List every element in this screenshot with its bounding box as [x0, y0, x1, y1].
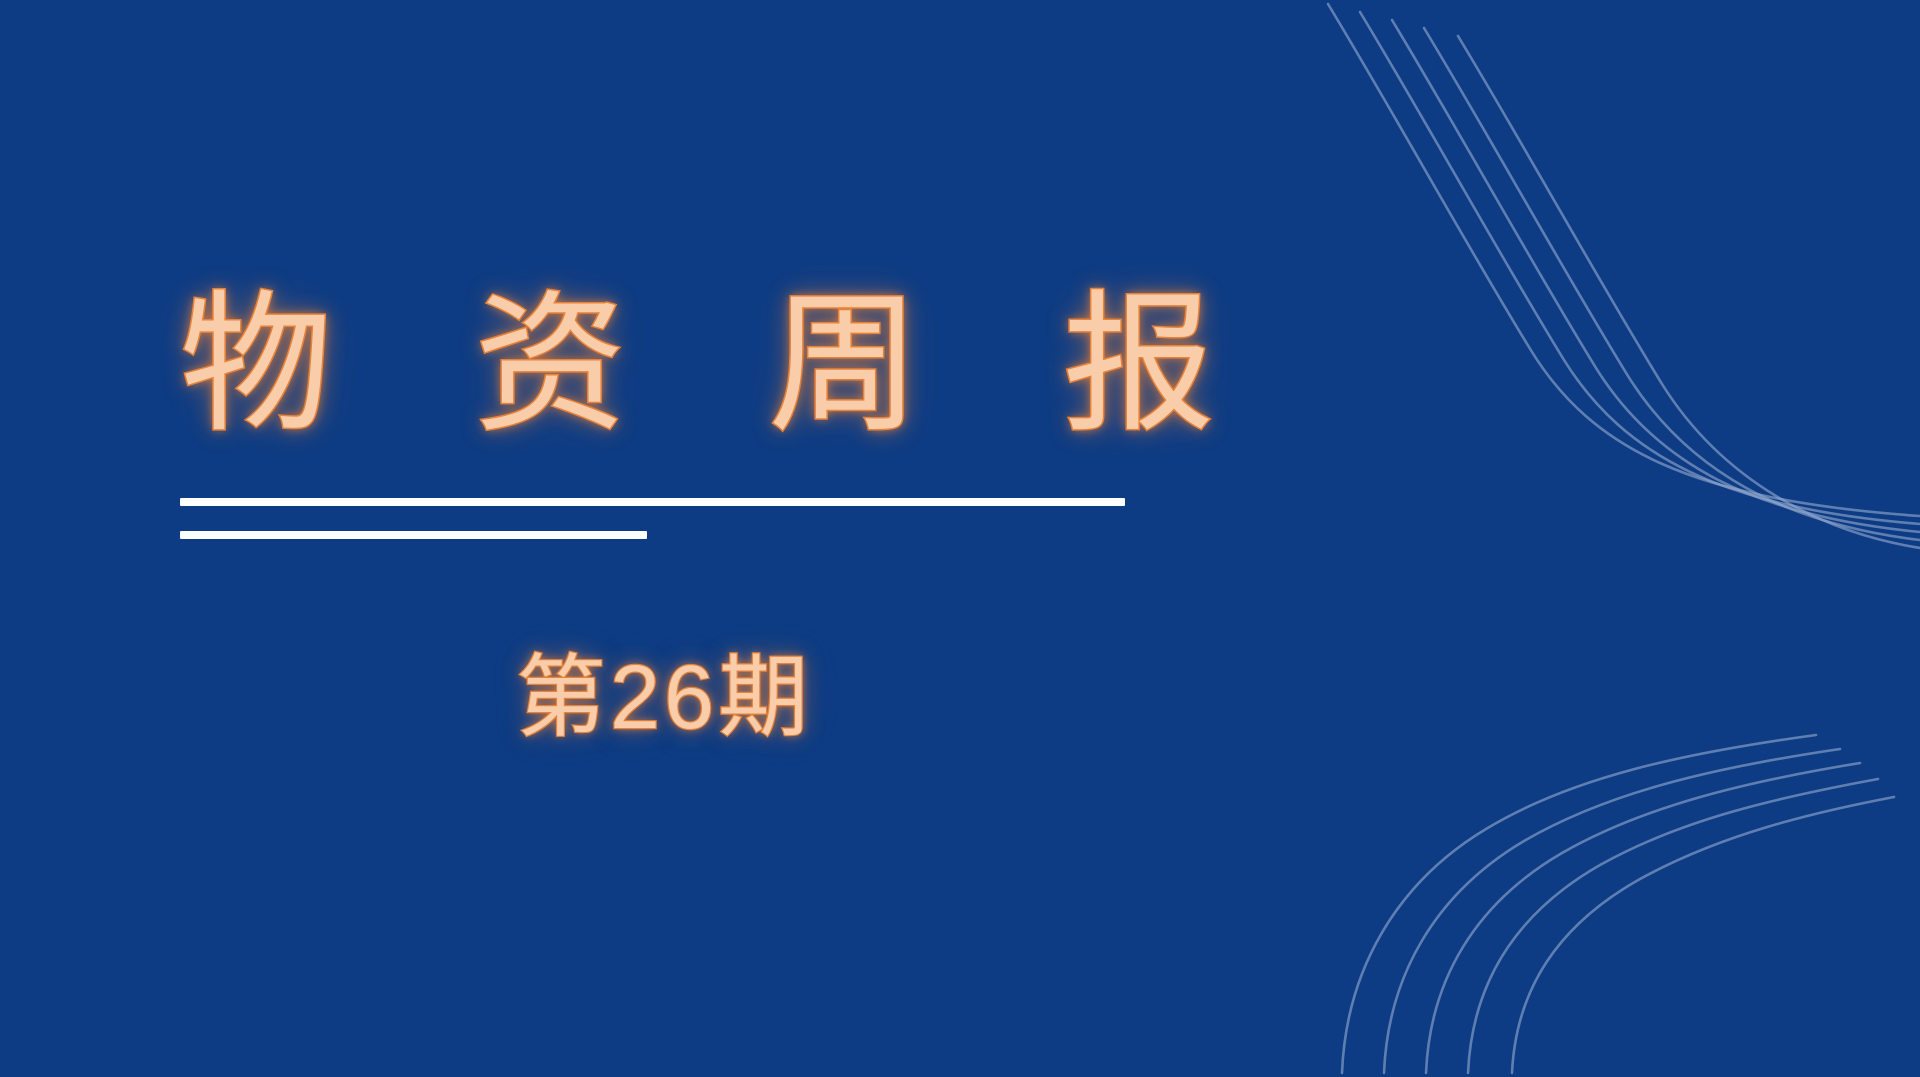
cover-slide: 物 资 周 报 第26期 [0, 0, 1920, 1077]
arc-lines-icon [1280, 717, 1920, 1077]
title-block: 物 资 周 报 [180, 286, 1300, 444]
wave-lines-icon [1280, 0, 1920, 600]
title-underline-group [180, 498, 1140, 539]
title-underline-long [180, 498, 1125, 506]
page-title: 物 资 周 报 [180, 286, 1300, 444]
title-underline-short [180, 531, 647, 539]
issue-subtitle: 第26期 [516, 645, 812, 751]
